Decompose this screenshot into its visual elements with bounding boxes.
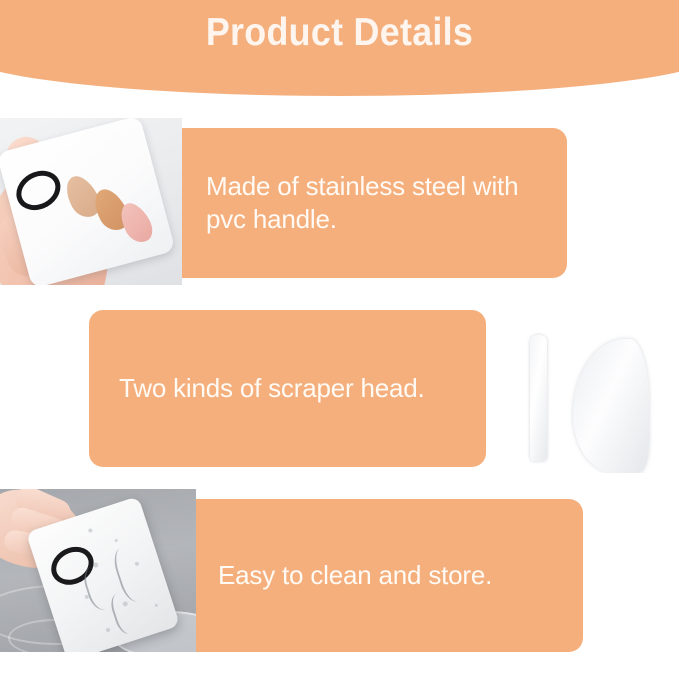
header-banner: Product Details	[0, 0, 679, 96]
feature-panel-2: Two kinds of scraper head.	[89, 310, 486, 467]
finger-ring-icon	[9, 163, 67, 218]
feature-text-1: Made of stainless steel with pvc handle.	[206, 170, 551, 236]
feature-panel-1: Made of stainless steel with pvc handle.	[182, 128, 567, 278]
feature-text-2: Two kinds of scraper head.	[119, 372, 425, 405]
feature-panel-3: Easy to clean and store.	[196, 499, 583, 652]
page-title: Product Details	[27, 11, 652, 55]
water-droplet	[154, 603, 158, 607]
feature-image-1	[0, 118, 182, 285]
feature-image-3	[0, 489, 196, 652]
feature-text-3: Easy to clean and store.	[218, 559, 492, 592]
scraper-head-straight-shape	[530, 335, 547, 461]
feature-image-2	[505, 308, 679, 473]
water-droplet	[88, 528, 93, 533]
water-droplet	[105, 627, 110, 632]
water-droplet	[114, 539, 118, 543]
